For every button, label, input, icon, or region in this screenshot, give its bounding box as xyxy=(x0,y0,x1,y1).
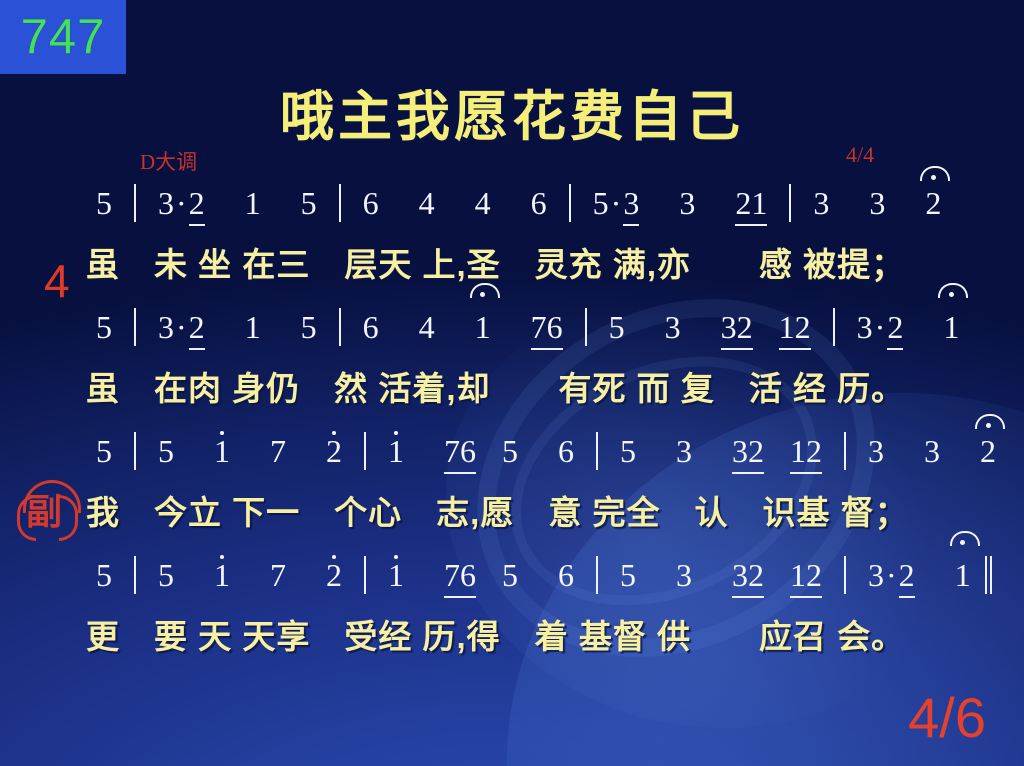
barline xyxy=(339,184,341,222)
note: 2 xyxy=(899,557,915,598)
music-score: 5 3·2 1 5 6 4 4 6 5·3 3 21 3 3 2 虽 未 坐 在… xyxy=(0,184,1024,680)
note-octave-up-with-fermata: 1 xyxy=(475,309,491,346)
note: 5 xyxy=(502,433,518,470)
page-indicator: 4/6 xyxy=(908,690,986,746)
notation-row: 5 3·2 1 5 6 4 1 76 5 3 32 12 3·2 1 xyxy=(0,308,1024,364)
barline xyxy=(134,308,136,346)
note: 3 xyxy=(869,185,885,222)
page-title: 哦主我愿花费自己 xyxy=(0,72,1024,151)
note: 6 xyxy=(558,557,574,594)
note: 32 xyxy=(721,309,753,350)
augmentation-dot: · xyxy=(886,557,897,593)
note-octave-up: 1 xyxy=(214,557,230,594)
note: 6 xyxy=(363,309,379,346)
note: 1 xyxy=(245,185,261,222)
note: 76 xyxy=(444,433,476,474)
lyric-row: 虽 在肉 身仍 然 活着,却 有死 而 复 活 经 历。 xyxy=(0,364,1024,420)
score-system: 5 5 1 7 2 1 76 5 6 5 3 32 12 3·2 1 xyxy=(0,556,1024,680)
note: 21 xyxy=(735,185,767,226)
note-octave-up: 2 xyxy=(326,557,342,594)
time-signature: 4/4 xyxy=(846,142,874,168)
note: 12 xyxy=(779,309,811,350)
note: 3 xyxy=(665,309,681,346)
note: 5 xyxy=(620,557,636,594)
augmentation-dot: · xyxy=(875,309,886,345)
hymn-number-badge: 747 xyxy=(0,0,126,74)
notation-row: 5 5 1 7 2 1 76 5 6 5 3 32 12 3 3 2 xyxy=(0,432,1024,488)
note: 32 xyxy=(732,557,764,598)
note: 5 xyxy=(96,433,112,470)
note-octave-up: 1 xyxy=(214,433,230,470)
note-with-fermata: 2 xyxy=(980,433,996,470)
key-signature: D大调 xyxy=(140,146,197,176)
barline xyxy=(844,432,846,470)
note: 2 xyxy=(189,309,205,350)
note: 5 xyxy=(96,185,112,222)
barline xyxy=(339,308,341,346)
note: 1 xyxy=(245,309,261,346)
barline xyxy=(596,432,598,470)
note-octave-up: 1 xyxy=(388,433,404,470)
note: 3 xyxy=(676,557,692,594)
augmentation-dot: · xyxy=(176,309,187,345)
barline xyxy=(844,556,846,594)
note: 6 xyxy=(558,433,574,470)
note: 5 xyxy=(502,557,518,594)
note-octave-up: 1 xyxy=(388,557,404,594)
note: 3 xyxy=(158,309,174,346)
note: 4 xyxy=(419,185,435,222)
note: 5 xyxy=(620,433,636,470)
note: 5 xyxy=(96,309,112,346)
note: 3 xyxy=(813,185,829,222)
barline xyxy=(134,556,136,594)
note: 6 xyxy=(531,185,547,222)
note: 3 xyxy=(924,433,940,470)
barline xyxy=(585,308,587,346)
score-system: 5 5 1 7 2 1 76 5 6 5 3 32 12 3 3 2 xyxy=(0,432,1024,556)
note: 4 xyxy=(475,185,491,222)
final-double-barline xyxy=(985,556,993,594)
note-with-fermata: 2 xyxy=(925,185,941,222)
hymn-number: 747 xyxy=(21,13,106,62)
note: 4 xyxy=(419,309,435,346)
note: 5 xyxy=(158,557,174,594)
barline xyxy=(364,556,366,594)
note: 5 xyxy=(593,185,609,222)
note: 5 xyxy=(158,433,174,470)
notation-row: 5 5 1 7 2 1 76 5 6 5 3 32 12 3·2 1 xyxy=(0,556,1024,612)
note: 5 xyxy=(609,309,625,346)
note-octave-up-with-fermata: 1 xyxy=(955,557,971,594)
barline xyxy=(364,432,366,470)
note-octave-up-with-fermata: 1 xyxy=(943,309,959,346)
slide-canvas: 747 哦主我愿花费自己 D大调 4/4 4 副 5 3·2 1 5 6 4 4… xyxy=(0,0,1024,766)
note: 3 xyxy=(623,185,639,226)
barline xyxy=(134,184,136,222)
note: 76 xyxy=(531,309,563,350)
score-system: 5 3·2 1 5 6 4 1 76 5 3 32 12 3·2 1 虽 在肉 … xyxy=(0,308,1024,432)
note: 5 xyxy=(301,309,317,346)
note: 6 xyxy=(363,185,379,222)
barline xyxy=(833,308,835,346)
note: 3 xyxy=(868,433,884,470)
note: 5 xyxy=(96,557,112,594)
note: 3 xyxy=(676,433,692,470)
lyric-row: 更 要 天 天享 受经 历,得 着 基督 供 应召 会。 xyxy=(0,612,1024,668)
note: 3 xyxy=(158,185,174,222)
note: 3 xyxy=(868,557,884,594)
note: 2 xyxy=(887,309,903,350)
note: 7 xyxy=(270,557,286,594)
augmentation-dot: · xyxy=(611,185,622,221)
note: 3 xyxy=(679,185,695,222)
note: 5 xyxy=(301,185,317,222)
notation-row: 5 3·2 1 5 6 4 4 6 5·3 3 21 3 3 2 xyxy=(0,184,1024,240)
barline xyxy=(789,184,791,222)
score-system: 5 3·2 1 5 6 4 4 6 5·3 3 21 3 3 2 虽 未 坐 在… xyxy=(0,184,1024,308)
augmentation-dot: · xyxy=(176,185,187,221)
note: 2 xyxy=(189,185,205,226)
note-octave-up: 2 xyxy=(326,433,342,470)
lyric-row: 虽 未 坐 在三 层天 上,圣 灵充 满,亦 感 被提； xyxy=(0,240,1024,296)
barline xyxy=(134,432,136,470)
note: 32 xyxy=(732,433,764,474)
note: 76 xyxy=(444,557,476,598)
barline xyxy=(569,184,571,222)
note: 12 xyxy=(790,557,822,598)
note: 7 xyxy=(270,433,286,470)
note: 3 xyxy=(857,309,873,346)
note: 12 xyxy=(790,433,822,474)
lyric-row: 我 今立 下一 个心 志,愿 意 完全 认 识基 督； xyxy=(0,488,1024,544)
barline xyxy=(596,556,598,594)
